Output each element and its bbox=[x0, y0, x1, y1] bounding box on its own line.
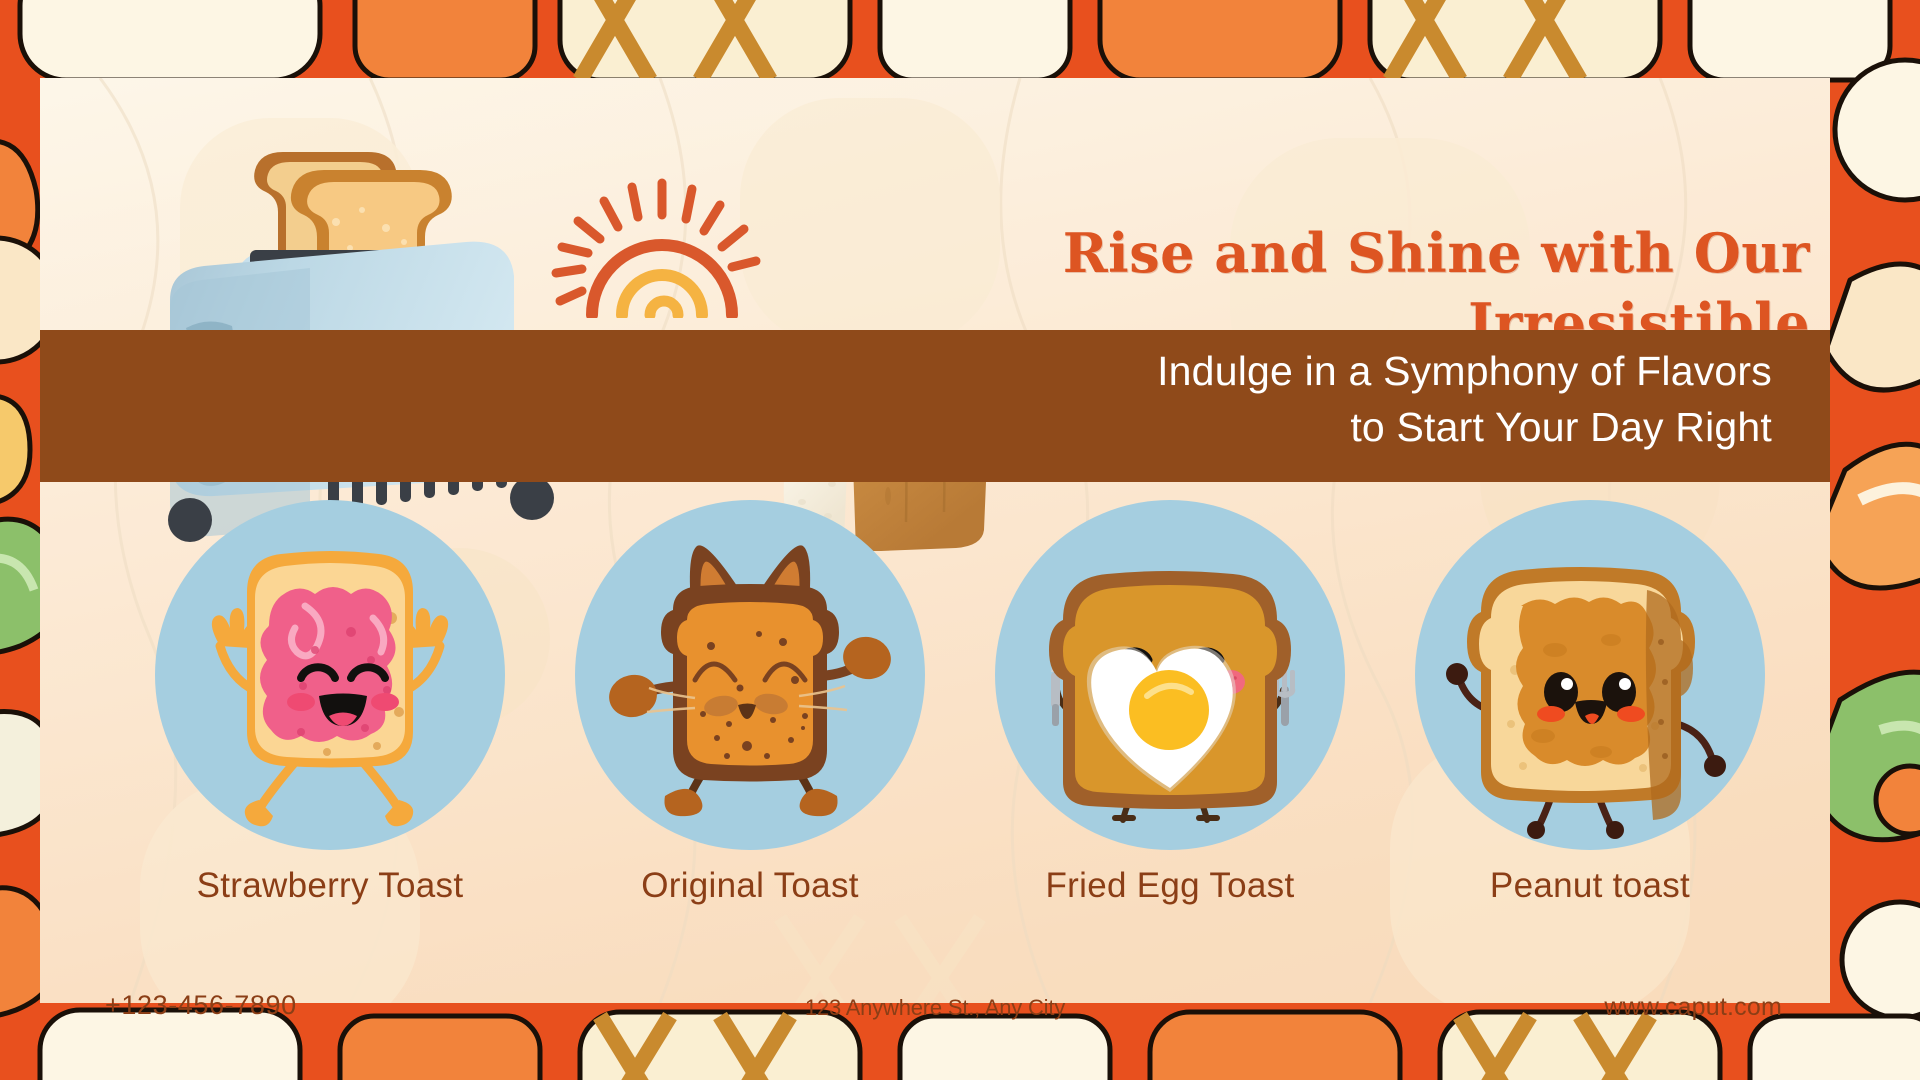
product-list: Strawberry Toast bbox=[130, 500, 1790, 920]
footer-website[interactable]: www.caput.com bbox=[1604, 993, 1782, 1022]
product-label: Original Toast bbox=[641, 866, 859, 906]
subtitle-line-2: to Start Your Day Right bbox=[772, 400, 1772, 456]
original-toast-mascot-icon bbox=[575, 500, 925, 850]
product-label: Peanut toast bbox=[1490, 866, 1690, 906]
subtitle-banner: Indulge in a Symphony of Flavors to Star… bbox=[40, 330, 1830, 482]
strawberry-toast-mascot-icon bbox=[155, 500, 505, 850]
fried-egg-toast-mascot-icon bbox=[995, 500, 1345, 850]
product-label: Fried Egg Toast bbox=[1046, 866, 1295, 906]
product-disc bbox=[995, 500, 1345, 850]
product-label: Strawberry Toast bbox=[197, 866, 464, 906]
subtitle-line-1: Indulge in a Symphony of Flavors bbox=[772, 344, 1772, 400]
footer-address: 123 Anywhere St., Any City bbox=[40, 995, 1830, 1021]
footer: +123-456-7890 123 Anywhere St., Any City… bbox=[40, 985, 1830, 1043]
product-item-fried-egg-toast[interactable]: Fried Egg Toast bbox=[970, 500, 1370, 906]
sunrise-rainbow-icon bbox=[548, 173, 763, 318]
product-disc bbox=[155, 500, 505, 850]
product-disc bbox=[1415, 500, 1765, 850]
peanut-toast-mascot-icon bbox=[1415, 500, 1765, 850]
product-item-peanut-toast[interactable]: Peanut toast bbox=[1390, 500, 1790, 906]
poster-canvas: Rise and Shine with Our Irresistible Toa… bbox=[0, 0, 1920, 1080]
product-item-strawberry-toast[interactable]: Strawberry Toast bbox=[130, 500, 530, 906]
product-disc bbox=[575, 500, 925, 850]
subtitle-text: Indulge in a Symphony of Flavors to Star… bbox=[772, 344, 1772, 456]
product-item-original-toast[interactable]: Original Toast bbox=[550, 500, 950, 906]
